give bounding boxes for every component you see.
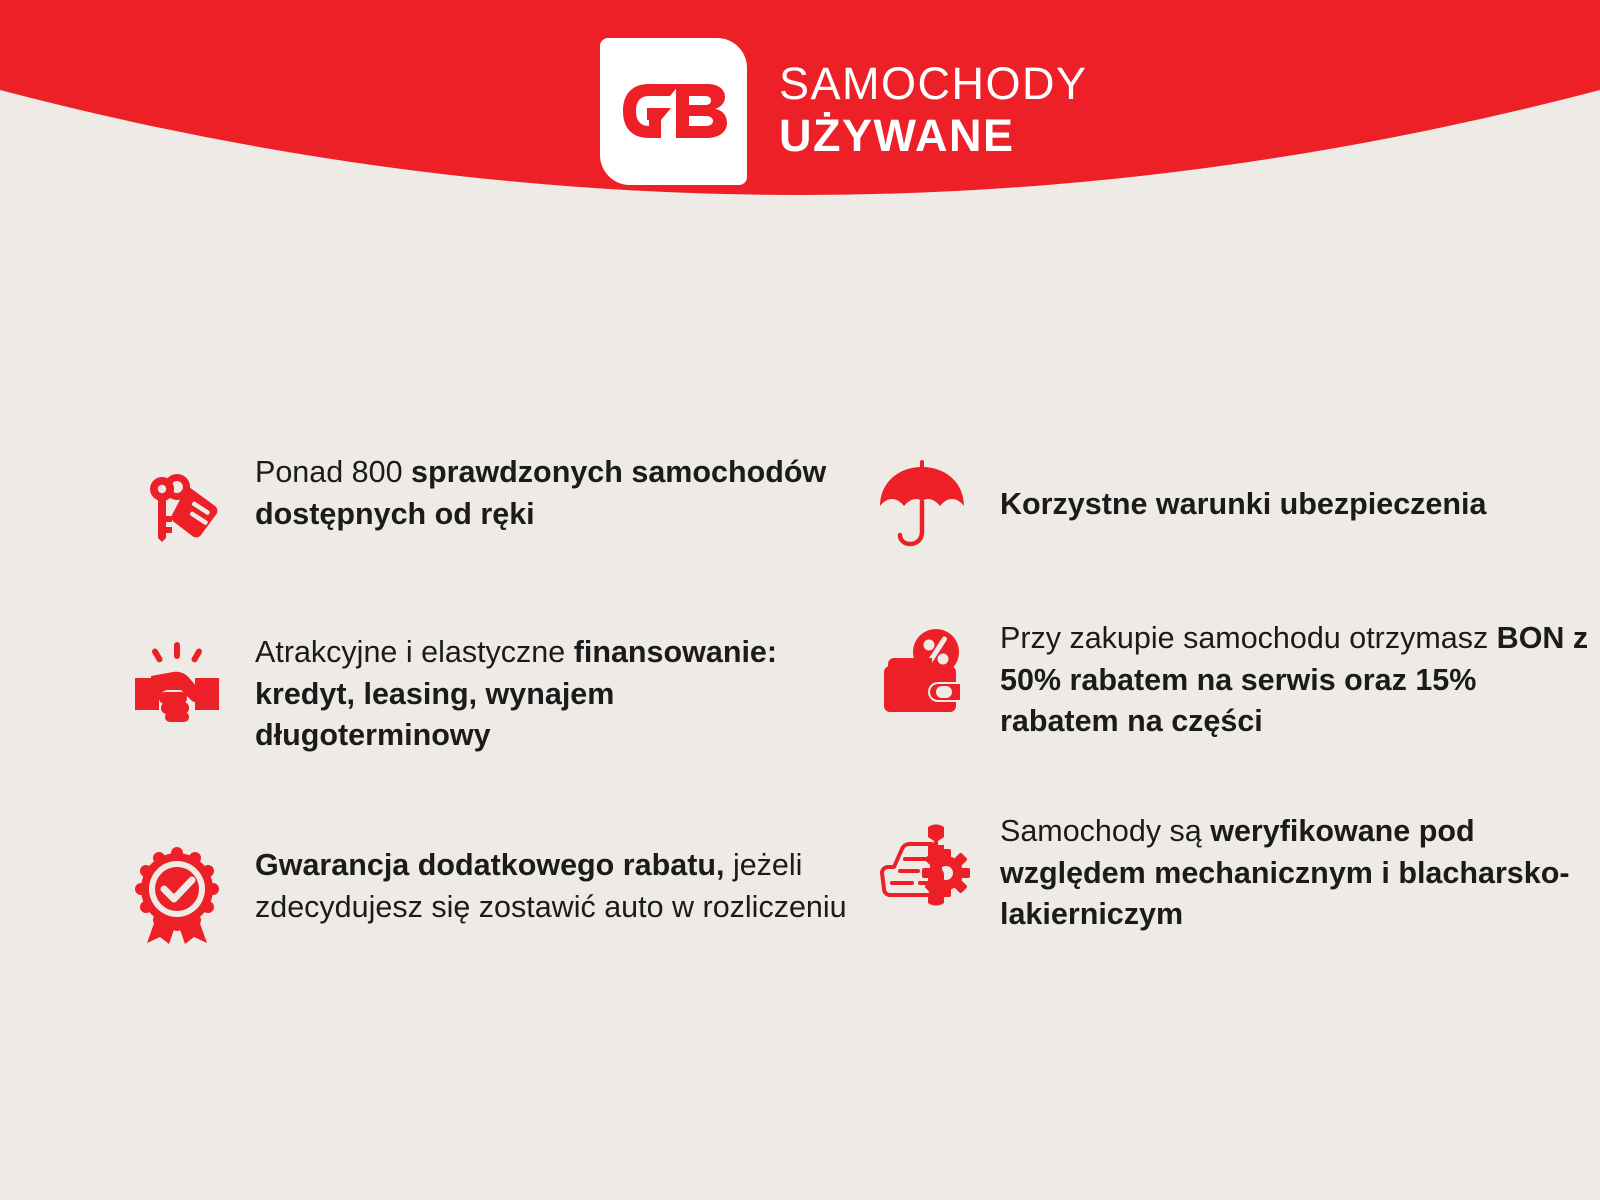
feature-text-regular-prefix: Samochody są bbox=[1000, 814, 1210, 848]
wallet-percent-icon bbox=[870, 616, 974, 720]
gb-monogram-icon bbox=[619, 82, 729, 140]
feature-text: Korzystne warunki ubezpieczenia bbox=[1000, 482, 1486, 526]
handshake-icon bbox=[125, 630, 229, 734]
feature-text: Atrakcyjne i elastyczne finansowanie: kr… bbox=[255, 630, 855, 757]
feature-item: Przy zakupie samochodu otrzymasz BON z 5… bbox=[870, 616, 1595, 743]
feature-item: Samochody są weryfikowane pod względem m… bbox=[870, 809, 1595, 936]
feature-text-regular-prefix: Ponad 800 bbox=[255, 455, 411, 489]
features-column-right: Korzystne warunki ubezpieczenia bbox=[860, 440, 1595, 947]
award-badge-check-icon bbox=[125, 843, 229, 947]
feature-item: Ponad 800 sprawdzonych samochodów dostęp… bbox=[125, 450, 860, 554]
features-grid: Ponad 800 sprawdzonych samochodów dostęp… bbox=[0, 440, 1600, 947]
header-banner: SAMOCHODY UŻYWANE bbox=[0, 0, 1600, 250]
feature-text-bold: Gwarancja dodatkowego rabatu, bbox=[255, 848, 724, 882]
feature-text: Gwarancja dodatkowego rabatu, jeżeli zde… bbox=[255, 843, 855, 928]
gb-logo-tile bbox=[600, 38, 747, 185]
feature-item: Gwarancja dodatkowego rabatu, jeżeli zde… bbox=[125, 843, 860, 947]
feature-item: Korzystne warunki ubezpieczenia bbox=[870, 452, 1595, 556]
feature-text: Samochody są weryfikowane pod względem m… bbox=[1000, 809, 1595, 936]
brand-lockup: SAMOCHODY UŻYWANE bbox=[600, 36, 1088, 186]
umbrella-icon bbox=[870, 452, 974, 556]
brand-wordmark: SAMOCHODY UŻYWANE bbox=[779, 61, 1088, 162]
car-keys-icon bbox=[125, 450, 229, 554]
feature-text: Przy zakupie samochodu otrzymasz BON z 5… bbox=[1000, 616, 1595, 743]
feature-text-regular-prefix: Przy zakupie samochodu otrzymasz bbox=[1000, 621, 1497, 655]
brand-wordmark-line1: SAMOCHODY bbox=[779, 61, 1088, 106]
feature-text-bold: Korzystne warunki ubezpieczenia bbox=[1000, 487, 1486, 521]
feature-text: Ponad 800 sprawdzonych samochodów dostęp… bbox=[255, 450, 855, 535]
car-wrench-gear-icon bbox=[870, 809, 974, 913]
feature-text-regular-prefix: Atrakcyjne i elastyczne bbox=[255, 635, 574, 669]
brand-wordmark-line2: UŻYWANE bbox=[779, 113, 1088, 158]
features-column-left: Ponad 800 sprawdzonych samochodów dostęp… bbox=[125, 440, 860, 947]
feature-item: Atrakcyjne i elastyczne finansowanie: kr… bbox=[125, 630, 860, 757]
